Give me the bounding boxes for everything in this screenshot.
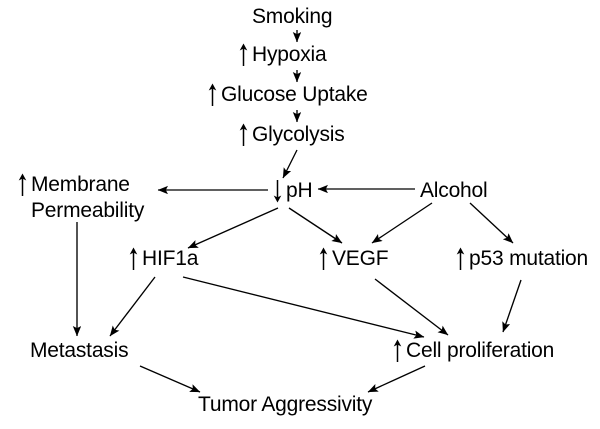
node-label-cellprolif: Cell proliferation xyxy=(406,338,554,363)
edge-metastasis-tumor xyxy=(140,366,200,392)
node-tumor[interactable]: Tumor Aggressivity xyxy=(198,392,372,417)
up-regulation-arrow-icon xyxy=(17,172,28,198)
node-smoking[interactable]: Smoking xyxy=(252,4,332,29)
edge-alcohol-vegf xyxy=(372,203,432,243)
edge-glycolysis-ph xyxy=(283,150,297,178)
node-label-metastasis: Metastasis xyxy=(30,338,128,363)
edge-alcohol-p53 xyxy=(470,203,513,243)
node-label-ph: pH xyxy=(286,178,312,203)
pathway-diagram: SmokingHypoxiaGlucose UptakeGlycolysisMe… xyxy=(0,0,600,429)
edge-vegf-cellprolif xyxy=(375,279,448,335)
node-p53[interactable]: p53 mutation xyxy=(455,246,588,272)
edge-cellprolif-tumor xyxy=(368,366,425,392)
node-vegf[interactable]: VEGF xyxy=(318,246,388,272)
node-label-glycolysis: Glycolysis xyxy=(252,122,345,147)
node-label-glucose: Glucose Uptake xyxy=(221,82,368,107)
edge-ph-hif1a xyxy=(188,208,278,248)
edge-p53-cellprolif xyxy=(503,280,521,332)
node-glucose[interactable]: Glucose Uptake xyxy=(207,82,368,108)
node-hypoxia[interactable]: Hypoxia xyxy=(238,42,326,68)
up-regulation-arrow-icon xyxy=(238,42,249,68)
node-label-alcohol: Alcohol xyxy=(420,178,487,203)
node-label-vegf: VEGF xyxy=(332,246,388,271)
up-regulation-arrow-icon xyxy=(238,122,249,148)
up-regulation-arrow-icon xyxy=(455,246,466,272)
node-membrane[interactable]: Membrane Permeability xyxy=(17,172,144,224)
node-label-p53: p53 mutation xyxy=(469,246,588,271)
down-regulation-arrow-icon xyxy=(272,178,283,204)
up-regulation-arrow-icon xyxy=(207,82,218,108)
node-cellprolif[interactable]: Cell proliferation xyxy=(392,338,554,364)
edge-hif1a-cellprolif xyxy=(183,277,424,337)
up-regulation-arrow-icon xyxy=(318,246,329,272)
node-alcohol[interactable]: Alcohol xyxy=(420,178,487,203)
node-label-smoking: Smoking xyxy=(252,4,332,29)
up-regulation-arrow-icon xyxy=(128,246,139,272)
edge-hif1a-metastasis xyxy=(110,277,155,336)
edge-ph-vegf xyxy=(289,208,342,243)
up-regulation-arrow-icon xyxy=(392,338,403,364)
node-hif1a[interactable]: HIF1a xyxy=(128,246,198,272)
node-label-hif1a: HIF1a xyxy=(142,246,198,271)
node-metastasis[interactable]: Metastasis xyxy=(30,338,128,363)
node-label-tumor: Tumor Aggressivity xyxy=(198,392,372,417)
node-label-membrane: Membrane Permeability xyxy=(31,172,144,224)
node-label-hypoxia: Hypoxia xyxy=(252,42,326,67)
node-glycolysis[interactable]: Glycolysis xyxy=(238,122,345,148)
node-ph[interactable]: pH xyxy=(272,178,312,204)
